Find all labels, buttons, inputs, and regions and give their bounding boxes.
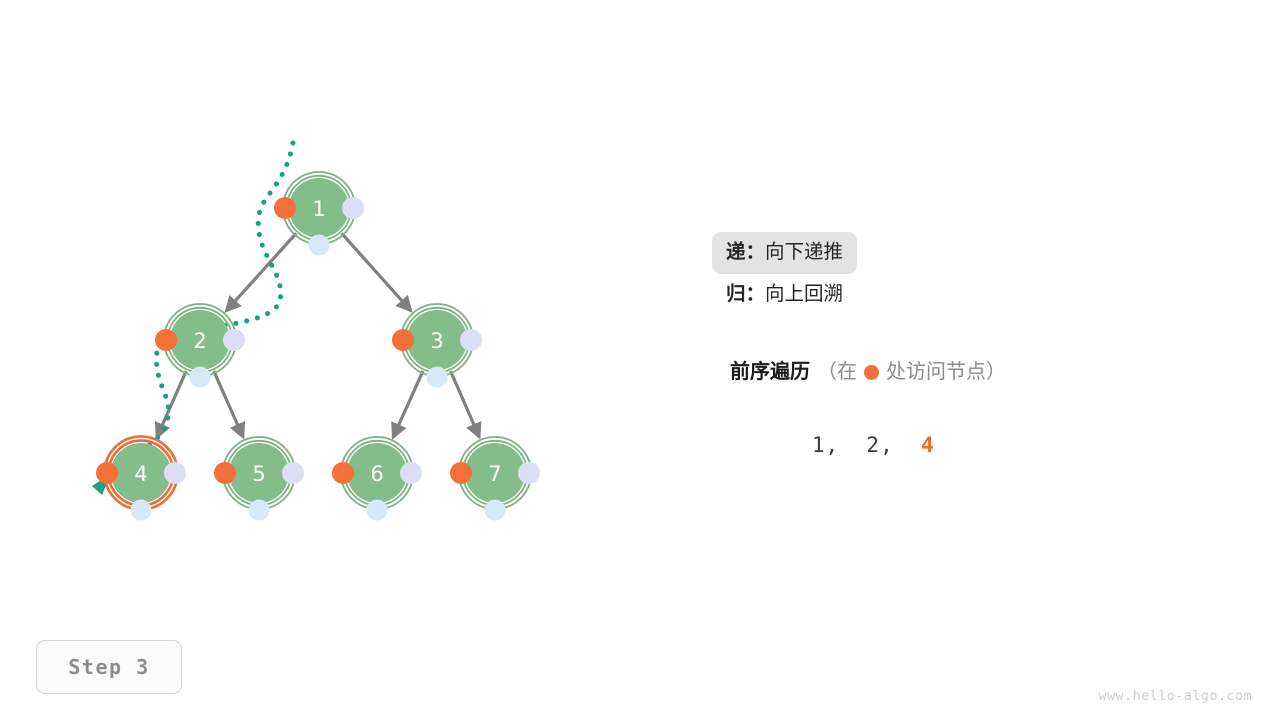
node-visit-dot-icon: [332, 462, 354, 484]
node-bottom-dot-icon: [249, 500, 270, 521]
tree-edge-n3-n7: [451, 371, 480, 437]
node-bottom-dot-icon: [190, 367, 211, 388]
node-right-dot-icon: [342, 197, 364, 219]
binary-tree-diagram: 1234567: [0, 0, 1280, 720]
node-visit-dot-icon: [392, 329, 414, 351]
node-visit-dot-icon: [450, 462, 472, 484]
recursion-legend: 递：向下递推归：向上回溯: [726, 232, 1246, 315]
node-right-dot-icon: [164, 462, 186, 484]
traversal-order-block: 前序遍历 （在 处访问节点） 1, 2, 4: [730, 362, 1250, 481]
tree-nodes: 1234567: [96, 172, 540, 521]
tree-node-5[interactable]: 5: [214, 437, 304, 521]
traversal-note-before: （在: [817, 362, 857, 382]
node-right-dot-icon: [223, 329, 245, 351]
tree-edge-n3-n6: [393, 371, 423, 437]
node-right-dot-icon: [460, 329, 482, 351]
legend-line-1: 递：向下递推: [712, 232, 857, 274]
diagram-canvas: 1234567 递：向下递推归：向上回溯 前序遍历 （在 处访问节点） 1, 2…: [0, 0, 1280, 720]
step-label: Step 3: [68, 655, 149, 679]
step-badge: Step 3: [36, 640, 182, 694]
current-value: 4: [921, 433, 935, 457]
legend-line-2-key: 归：: [726, 285, 765, 305]
node-right-dot-icon: [400, 462, 422, 484]
node-label: 6: [370, 462, 383, 486]
watermark-text: www.hello-algo.com: [1099, 688, 1253, 704]
visited-values: 1, 2,: [812, 433, 921, 457]
tree-node-7[interactable]: 7: [450, 437, 540, 521]
node-label: 3: [430, 329, 443, 353]
tree-edge-n1-n3: [342, 233, 411, 311]
legend-line-1-key: 递：: [726, 243, 765, 263]
node-bottom-dot-icon: [427, 367, 448, 388]
node-bottom-dot-icon: [131, 500, 152, 521]
node-right-dot-icon: [282, 462, 304, 484]
node-visit-dot-icon: [155, 329, 177, 351]
legend-line-2-text: 向上回溯: [765, 285, 843, 305]
tree-node-4[interactable]: 4: [96, 437, 186, 521]
node-visit-dot-icon: [96, 462, 118, 484]
node-visit-dot-icon: [214, 462, 236, 484]
recursion-path-dotted: [103, 143, 293, 476]
traversal-order-title: 前序遍历 （在 处访问节点）: [730, 362, 1250, 382]
tree-edge-n2-n5: [214, 371, 243, 437]
traversal-note-after: 处访问节点）: [886, 362, 1006, 382]
traversal-sequence: 1, 2, 4: [730, 409, 1250, 481]
node-label: 1: [312, 197, 325, 221]
visit-marker-dot-icon: [864, 365, 879, 380]
tree-edge-n2-n4: [157, 371, 186, 437]
legend-line-2: 归：向上回溯: [712, 274, 1246, 316]
node-bottom-dot-icon: [367, 500, 388, 521]
tree-node-3[interactable]: 3: [392, 304, 482, 388]
tree-node-6[interactable]: 6: [332, 437, 422, 521]
legend-line-1-text: 向下递推: [765, 243, 843, 263]
node-label: 7: [488, 462, 501, 486]
traversal-name: 前序遍历: [730, 362, 810, 382]
watermark: www.hello-algo.com: [1099, 688, 1253, 704]
node-label: 5: [252, 462, 265, 486]
node-bottom-dot-icon: [485, 500, 506, 521]
node-visit-dot-icon: [274, 197, 296, 219]
node-label: 2: [193, 329, 206, 353]
tree-node-2[interactable]: 2: [155, 304, 245, 388]
node-label: 4: [134, 462, 147, 486]
node-bottom-dot-icon: [309, 235, 330, 256]
node-right-dot-icon: [518, 462, 540, 484]
